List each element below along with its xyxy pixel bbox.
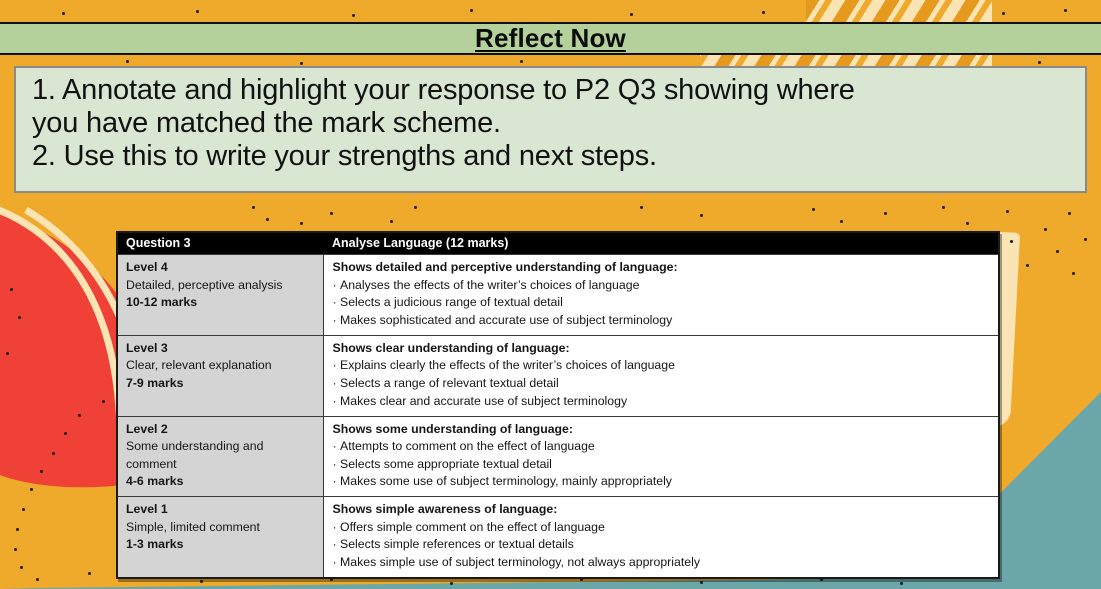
descriptor-bullet: Explains clearly the effects of the writ… [333, 357, 993, 375]
descriptor-cell: Shows simple awareness of language: Offe… [323, 497, 998, 577]
descriptor-bullet: Offers simple comment on the effect of l… [333, 519, 993, 537]
level-cell: Level 2 Some understanding and comment 4… [118, 416, 323, 497]
descriptor-bullet: Selects some appropriate textual detail [333, 456, 993, 474]
descriptor-lead: Shows some understanding of language: [333, 421, 993, 439]
descriptor-bullet: Makes sophisticated and accurate use of … [333, 312, 993, 330]
level-name: Level 4 [126, 259, 317, 277]
level-cell: Level 1 Simple, limited comment 1-3 mark… [118, 497, 323, 577]
table-row: Level 2 Some understanding and comment 4… [118, 416, 998, 497]
descriptor-bullet: Makes some use of subject terminology, m… [333, 473, 993, 491]
slide-title-band: Reflect Now [0, 22, 1101, 55]
instruction-line-1: 1. Annotate and highlight your response … [32, 74, 1071, 107]
header-task: Analyse Language (12 marks) [323, 233, 998, 255]
descriptor-bullet: Makes clear and accurate use of subject … [333, 393, 993, 411]
level-marks: 4-6 marks [126, 473, 317, 491]
level-descriptor: Detailed, perceptive analysis [126, 277, 317, 295]
table-row: Level 1 Simple, limited comment 1-3 mark… [118, 497, 998, 577]
descriptor-lead: Shows detailed and perceptive understand… [333, 259, 993, 277]
level-name: Level 1 [126, 501, 317, 519]
descriptor-bullet: Selects a judicious range of textual det… [333, 294, 993, 312]
slide-canvas: Reflect Now 1. Annotate and highlight yo… [0, 0, 1101, 589]
level-descriptor: Clear, relevant explanation [126, 357, 317, 375]
level-marks: 7-9 marks [126, 375, 317, 393]
mark-scheme-table: Question 3 Analyse Language (12 marks) L… [116, 231, 1000, 579]
instruction-box: 1. Annotate and highlight your response … [14, 66, 1087, 193]
descriptor-cell: Shows clear understanding of language: E… [323, 335, 998, 416]
descriptor-cell: Shows some understanding of language: At… [323, 416, 998, 497]
descriptor-cell: Shows detailed and perceptive understand… [323, 255, 998, 336]
descriptor-bullet: Selects simple references or textual det… [333, 536, 993, 554]
level-descriptor: Some understanding and comment [126, 438, 317, 473]
table-header-row: Question 3 Analyse Language (12 marks) [118, 233, 998, 255]
instruction-line-2: you have matched the mark scheme. [32, 107, 1071, 140]
descriptor-lead: Shows clear understanding of language: [333, 340, 993, 358]
descriptor-bullet: Attempts to comment on the effect of lan… [333, 438, 993, 456]
instruction-line-3: 2. Use this to write your strengths and … [32, 140, 1071, 173]
page-title: Reflect Now [475, 23, 626, 54]
level-cell: Level 3 Clear, relevant explanation 7-9 … [118, 335, 323, 416]
level-marks: 1-3 marks [126, 536, 317, 554]
header-question: Question 3 [118, 233, 323, 255]
table-row: Level 4 Detailed, perceptive analysis 10… [118, 255, 998, 336]
level-descriptor: Simple, limited comment [126, 519, 317, 537]
level-marks: 10-12 marks [126, 294, 317, 312]
level-cell: Level 4 Detailed, perceptive analysis 10… [118, 255, 323, 336]
descriptor-bullet: Makes simple use of subject terminology,… [333, 554, 993, 572]
descriptor-bullet: Analyses the effects of the writer’s cho… [333, 277, 993, 295]
descriptor-bullet: Selects a range of relevant textual deta… [333, 375, 993, 393]
level-name: Level 2 [126, 421, 317, 439]
level-name: Level 3 [126, 340, 317, 358]
diagonal-stripes-top [806, 0, 992, 22]
descriptor-lead: Shows simple awareness of language: [333, 501, 993, 519]
table-row: Level 3 Clear, relevant explanation 7-9 … [118, 335, 998, 416]
